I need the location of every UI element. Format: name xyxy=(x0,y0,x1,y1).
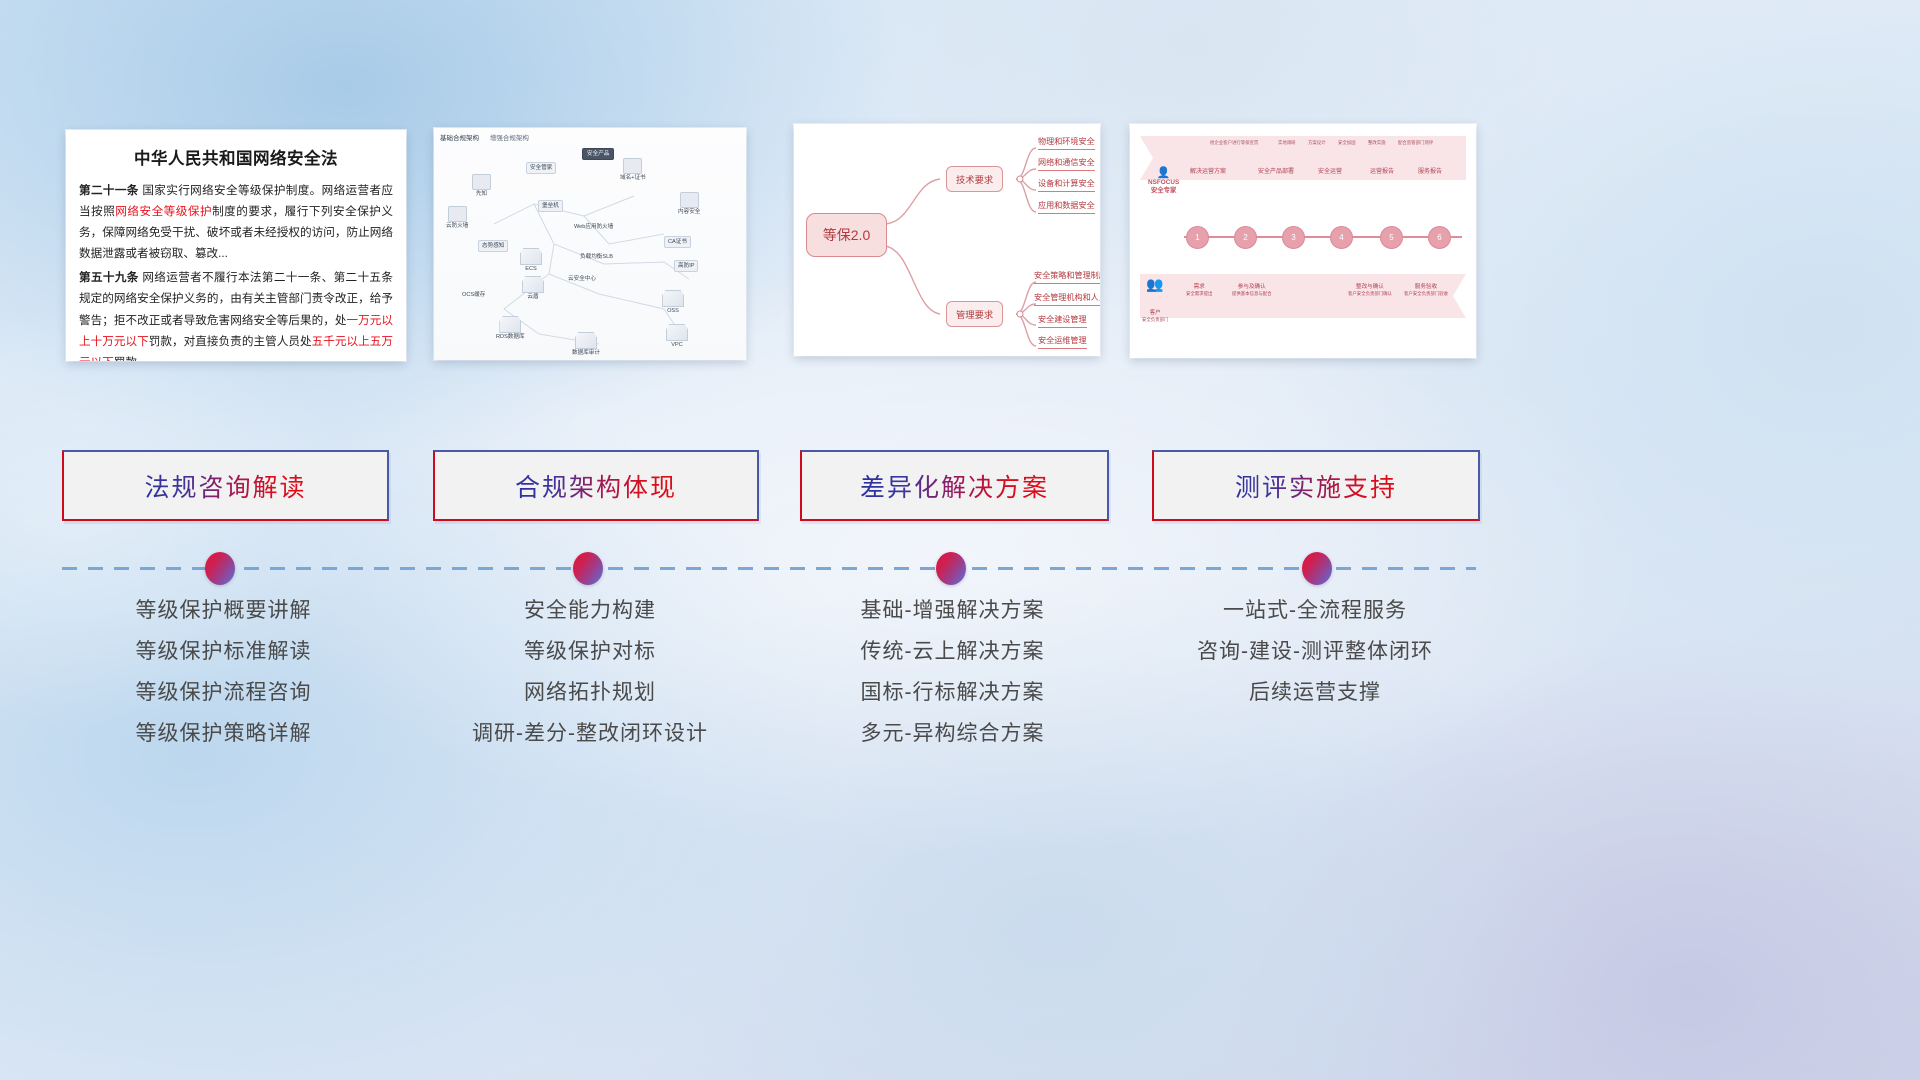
section-title-box-4[interactable]: 测评实施支持 xyxy=(1152,450,1480,521)
section-title-label: 法规咨询解读 xyxy=(144,468,306,504)
list-item: 国标-行标解决方案 xyxy=(795,682,1110,703)
list-item: 基础-增强解决方案 xyxy=(795,600,1110,621)
list-item: 等级保护策略详解 xyxy=(62,723,385,744)
section-title-label: 合规架构体现 xyxy=(515,468,677,504)
timeline-dot-3[interactable] xyxy=(936,552,966,585)
timeline-dot-1[interactable] xyxy=(205,552,235,585)
list-item: 调研-差分-整改闭环设计 xyxy=(425,723,755,744)
section-titles-row: 法规咨询解读 合规架构体现 差异化解决方案 测评实施支持 xyxy=(0,0,1920,1080)
timeline-dot-4[interactable] xyxy=(1302,552,1332,585)
timeline-dashed-line xyxy=(62,567,1476,570)
section-title-box-3[interactable]: 差异化解决方案 xyxy=(800,450,1109,521)
list-item: 一站式-全流程服务 xyxy=(1145,600,1485,621)
list-item: 咨询-建设-测评整体闭环 xyxy=(1145,641,1485,662)
list-item: 等级保护标准解读 xyxy=(62,641,385,662)
list-item: 等级保护对标 xyxy=(425,641,755,662)
section-title-box-1[interactable]: 法规咨询解读 xyxy=(62,450,389,521)
list-item: 等级保护概要讲解 xyxy=(62,600,385,621)
list-item: 多元-异构综合方案 xyxy=(795,723,1110,744)
list-item: 后续运营支撑 xyxy=(1145,682,1485,703)
list-item: 等级保护流程咨询 xyxy=(62,682,385,703)
section-items-3: 基础-增强解决方案 传统-云上解决方案 国标-行标解决方案 多元-异构综合方案 xyxy=(795,600,1110,764)
section-items-1: 等级保护概要讲解 等级保护标准解读 等级保护流程咨询 等级保护策略详解 xyxy=(62,600,385,764)
section-items-4: 一站式-全流程服务 咨询-建设-测评整体闭环 后续运营支撑 xyxy=(1145,600,1485,723)
section-title-label: 差异化解决方案 xyxy=(860,468,1049,504)
section-title-label: 测评实施支持 xyxy=(1235,468,1397,504)
list-item: 安全能力构建 xyxy=(425,600,755,621)
section-items-2: 安全能力构建 等级保护对标 网络拓扑规划 调研-差分-整改闭环设计 xyxy=(425,600,755,764)
list-item: 传统-云上解决方案 xyxy=(795,641,1110,662)
list-item: 网络拓扑规划 xyxy=(425,682,755,703)
section-title-box-2[interactable]: 合规架构体现 xyxy=(433,450,759,521)
timeline-dot-2[interactable] xyxy=(573,552,603,585)
